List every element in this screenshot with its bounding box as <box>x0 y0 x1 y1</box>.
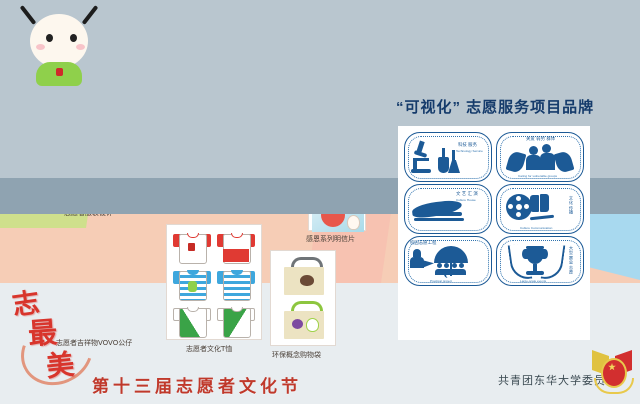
bag-green <box>280 301 328 339</box>
hands-people-icon: 关爱 弱势 群体 Caring for vulnerable groups <box>496 132 584 182</box>
worker-tool <box>422 260 434 268</box>
wave-line-1 <box>418 212 462 216</box>
visualization-heading: “可视化” 志愿服务项目品牌 <box>396 96 594 117</box>
bag-gray <box>280 257 328 295</box>
plush-head <box>30 14 88 68</box>
group-head-3 <box>452 263 457 268</box>
vovo-plush-photo <box>0 0 118 90</box>
tshirt-body <box>223 271 251 301</box>
plush-cheek-left <box>36 44 45 50</box>
youth-league-emblem <box>590 348 634 394</box>
tshirt-body <box>179 308 207 338</box>
reel-hole-r <box>524 204 529 209</box>
group-bodies <box>435 269 466 275</box>
icon-cell-vulnerable-groups[interactable]: 关爱 弱势 群体 Caring for vulnerable groups <box>496 132 584 182</box>
icon-label-en: Caring for vulnerable groups <box>518 174 557 178</box>
tshirt-red-2 <box>217 231 255 262</box>
culture-wave-icon: 文 艺 汇 演 Culture House <box>404 184 492 234</box>
tshirt-print <box>223 249 249 262</box>
bag-print <box>300 275 314 286</box>
icon-label-en: Technology Service <box>456 149 483 153</box>
festival-title: 第十三届志愿者文化节 <box>92 372 302 397</box>
icon-label-en: Practical project <box>430 279 452 283</box>
tshirt-print <box>188 243 195 251</box>
reel-hole-c <box>516 204 522 210</box>
person-head-left <box>529 146 538 155</box>
hand-right <box>554 150 575 174</box>
caption-postcards: 感恩系列明信片 <box>306 234 355 244</box>
group-head-4 <box>459 263 464 268</box>
tshirt-card <box>166 224 262 340</box>
umbrella-canopy <box>434 246 468 263</box>
icon-label-en: Culture House <box>456 198 476 202</box>
person-body-left <box>526 155 541 170</box>
trophy-laurel-icon: 大型 赛会 志愿 Large-scale events <box>496 236 584 286</box>
icon-cell-culture-house[interactable]: 文 艺 汇 演 Culture House <box>404 184 492 234</box>
microscope-stage <box>414 150 428 158</box>
caption-tshirt: 志愿者文化T恤 <box>186 344 232 354</box>
microscope-base <box>411 169 431 173</box>
worker-body <box>410 257 424 268</box>
bag-print <box>292 319 303 329</box>
tshirt-red-1 <box>173 231 211 262</box>
book-page-left <box>530 195 539 212</box>
plush-eye-right <box>70 34 77 42</box>
icon-label-side: 大型 赛会 志愿 <box>568 246 574 274</box>
group-head-1 <box>437 263 442 268</box>
poster-canvas: 东华大学志愿者文化周边 VOLO <box>0 0 640 404</box>
book-page-right <box>540 194 549 212</box>
tshirt-blue-1 <box>173 268 211 299</box>
film-book-icon: 文化 传播 Culture Communication <box>496 184 584 234</box>
icon-cell-culture-communication[interactable]: 文化 传播 Culture Communication <box>496 184 584 234</box>
reel-hole-b <box>516 212 521 217</box>
tshirt-green-2 <box>217 305 255 336</box>
tshirt-green-1 <box>173 305 211 336</box>
icon-label-cn: 关爱 弱势 群体 <box>526 136 555 142</box>
icon-label-cn: 校园志愿工程 <box>410 240 436 246</box>
trophy-stem <box>533 264 537 271</box>
icon-label-side: 文化 传播 <box>568 196 574 214</box>
icon-label-cn: 文 艺 汇 演 <box>456 191 478 197</box>
flask-2 <box>448 160 460 173</box>
plush-cheek-right <box>76 44 85 50</box>
eco-bags-card <box>270 250 336 346</box>
reel-hole-t <box>516 196 521 201</box>
icon-label-cn: 科技 服务 <box>458 142 477 148</box>
tshirt-blue-2 <box>217 268 255 299</box>
icon-cell-technology-service[interactable]: 科技 服务 Technology Service <box>404 132 492 182</box>
calligraphy-zui-mei: 志 最 美 <box>4 282 82 386</box>
tshirt-body <box>223 308 251 338</box>
bag-print-character <box>306 318 319 332</box>
hand-left <box>506 150 527 174</box>
icon-cell-large-scale-events[interactable]: 大型 赛会 志愿 Large-scale events <box>496 236 584 286</box>
wave-line-2 <box>414 218 464 221</box>
worker-helmet <box>413 249 421 257</box>
service-brand-icon-panel: 科技 服务 Technology Service 关爱 弱势 群体 Caring… <box>398 126 590 340</box>
group-head-2 <box>444 263 449 268</box>
flask-1 <box>438 157 449 173</box>
reel-hole-l <box>508 204 513 209</box>
icon-cell-practical-project[interactable]: 校园志愿工程 Practical project <box>404 236 492 286</box>
plush-badge <box>56 68 63 76</box>
tshirt-print <box>188 281 197 292</box>
caption-eco-bags: 环保概念购物袋 <box>272 350 321 360</box>
icon-label-en: Culture Communication <box>520 226 552 230</box>
film-strip <box>530 215 554 220</box>
postcard-character <box>347 215 360 230</box>
person-body-right <box>540 153 555 170</box>
calligraphy-char-3: 美 <box>44 343 76 386</box>
microscope-flask-icon: 科技 服务 Technology Service <box>404 132 492 182</box>
umbrella-volunteer-icon: 校园志愿工程 Practical project <box>404 236 492 286</box>
icon-label-en: Large-scale events <box>520 279 546 283</box>
laurel-right <box>541 243 566 281</box>
emblem-disc <box>601 358 627 388</box>
person-head-right <box>542 144 551 153</box>
plush-eye-left <box>46 34 53 42</box>
